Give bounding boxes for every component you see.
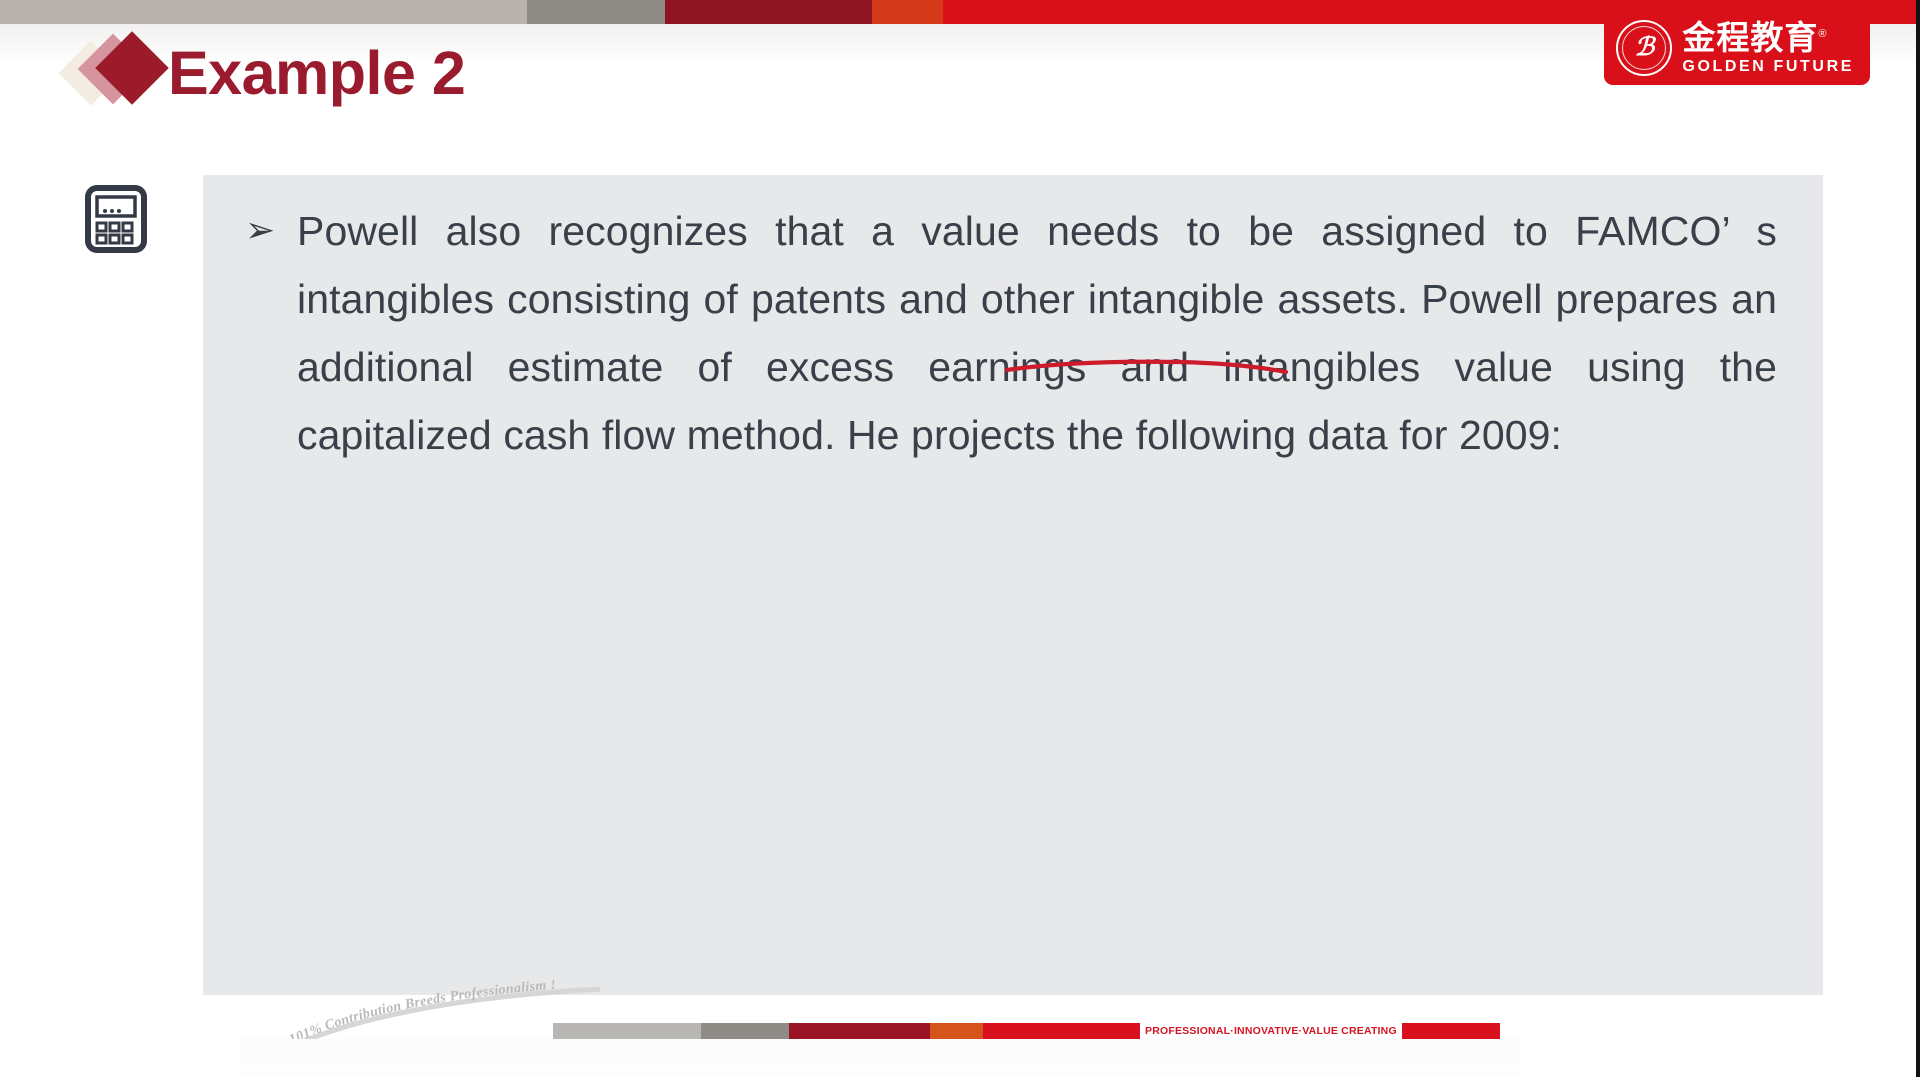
bottombar-segment-dark-red xyxy=(789,1023,930,1039)
topbar-segment-light-gray xyxy=(0,0,527,24)
bullet-row: ➢ Powell also recognizes that a value ne… xyxy=(245,197,1777,469)
bottombar-segment-bright-red-end xyxy=(1402,1023,1500,1039)
registered-trademark-icon: ® xyxy=(1818,28,1827,40)
bottombar-segment-orange xyxy=(930,1023,983,1039)
bottombar-segment-light-gray xyxy=(553,1023,701,1039)
bottombar-segment-dark-gray xyxy=(701,1023,789,1039)
footer-tagline: PROFESSIONAL·INNOVATIVE·VALUE CREATING xyxy=(1140,1023,1402,1039)
topbar-segment-orange xyxy=(872,0,943,24)
content-panel: ➢ Powell also recognizes that a value ne… xyxy=(203,175,1823,995)
calculator-icon xyxy=(85,185,147,253)
slide-canvas: ℬ 金程教育® GOLDEN FUTURE Example 2 xyxy=(0,0,1920,1080)
brand-name-cn: 金程教育® xyxy=(1682,21,1854,54)
brand-seal-icon: ℬ xyxy=(1616,20,1672,76)
arrow-bullet-icon: ➢ xyxy=(245,197,287,265)
title-row: Example 2 xyxy=(66,32,465,114)
bottombar-segment-bright-red xyxy=(983,1023,1140,1039)
brand-seal-monogram: ℬ xyxy=(1635,35,1655,60)
topbar-segment-dark-gray xyxy=(527,0,665,24)
body-text-highlighted: excess earnings xyxy=(766,344,1086,390)
bottom-color-bar: PROFESSIONAL·INNOVATIVE·VALUE CREATING xyxy=(553,1023,1510,1039)
brand-name-en: GOLDEN FUTURE xyxy=(1682,59,1854,75)
page-title: Example 2 xyxy=(168,43,465,104)
brand-wordmark: 金程教育® GOLDEN FUTURE xyxy=(1682,21,1854,75)
brand-name-cn-text: 金程教育 xyxy=(1682,19,1818,56)
diamond-bullet-icon xyxy=(66,32,164,114)
footer-gradient xyxy=(240,1039,1520,1080)
topbar-segment-dark-red xyxy=(665,0,872,24)
frame-edge-right xyxy=(1916,0,1920,1080)
body-paragraph: Powell also recognizes that a value need… xyxy=(297,197,1777,469)
brand-logo: ℬ 金程教育® GOLDEN FUTURE xyxy=(1604,11,1870,85)
